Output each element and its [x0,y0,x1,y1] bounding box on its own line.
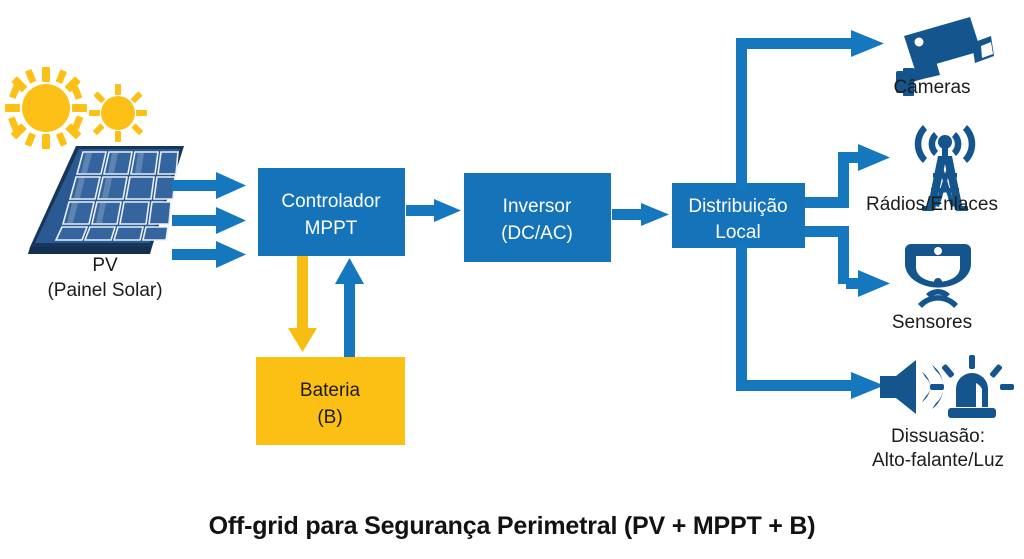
node-battery[interactable]: Bateria (B) [256,357,405,445]
mppt-label-line2: MPPT [305,218,358,239]
sun-small-icon [89,84,147,142]
diagram-canvas: PV (Painel Solar) Controlador MPPT Ba [0,0,1024,559]
pv-label-line2: (Painel Solar) [47,280,162,301]
load-label-radios: Rádios/Enlaces [866,194,998,215]
offgrid-security-diagram: PV (Painel Solar) Controlador MPPT Ba [0,0,1024,559]
load-label-sensores: Sensores [892,312,972,333]
battery-label-line2: (B) [317,407,342,428]
flow-pv-to-mppt [172,172,246,268]
sun-icon [5,67,87,149]
inverter-label-line1: Inversor [503,196,572,217]
mppt-label-line1: Controlador [281,191,381,212]
battery-label-line1: Bateria [300,380,361,401]
figure-title: Off-grid para Segurança Perimetral (PV +… [209,512,816,540]
node-mppt[interactable]: Controlador MPPT [258,168,405,256]
load-label-dissuasao-line2: Alto-falante/Luz [872,450,1004,471]
distribution-label-line1: Distribuição [688,196,787,217]
pv-label-line1: PV [92,255,118,276]
inverter-label-line2: (DC/AC) [501,223,573,244]
load-label-cameras: Câmeras [893,77,970,98]
distribution-label-line2: Local [715,222,760,243]
load-label-dissuasao-line1: Dissuasão: [891,426,985,447]
node-inverter[interactable]: Inversor (DC/AC) [464,173,611,262]
node-distribution[interactable]: Distribuição Local [672,183,805,248]
